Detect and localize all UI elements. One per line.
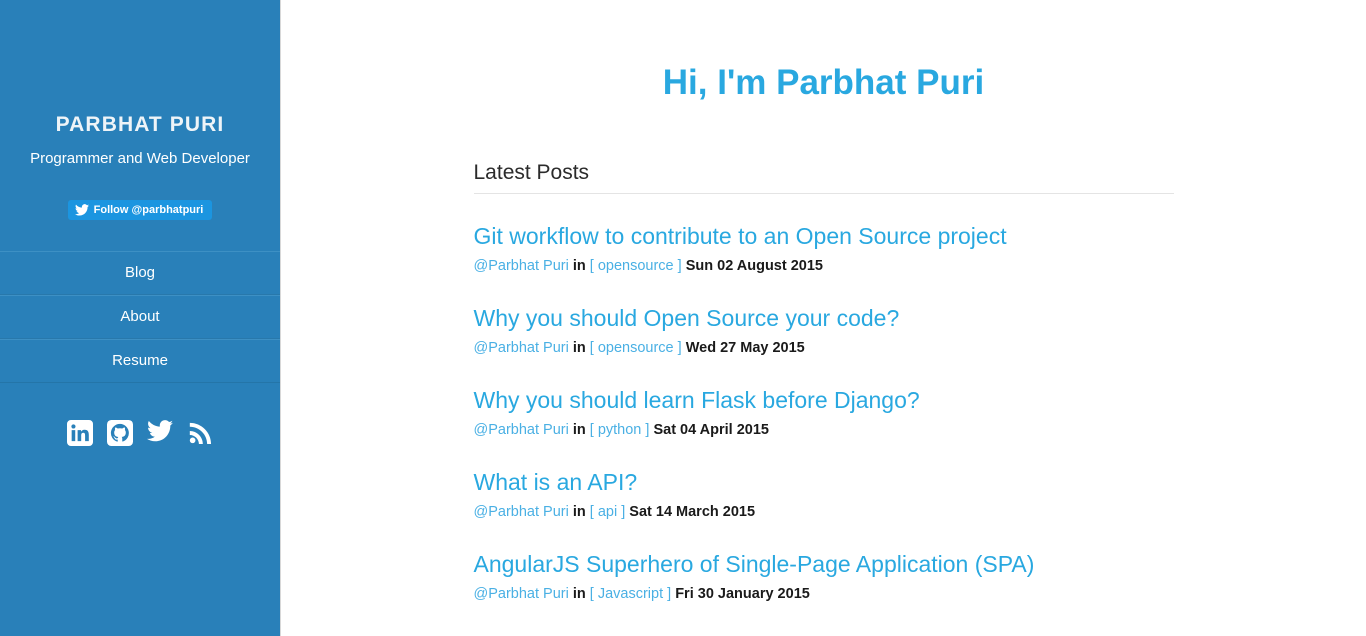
post-category-link[interactable]: [ opensource ]: [590, 340, 682, 356]
post-item: Why you should Open Source your code? @P…: [474, 276, 1174, 358]
meta-connector: in: [573, 258, 586, 274]
sidebar-link-blog[interactable]: Blog: [0, 252, 280, 294]
post-date: Fri 30 January 2015: [675, 586, 810, 602]
post-date: Sat 04 April 2015: [653, 422, 769, 438]
post-date: Sat 14 March 2015: [629, 504, 755, 520]
sidebar-link-resume[interactable]: Resume: [0, 340, 280, 382]
post-author-link[interactable]: @Parbhat Puri: [474, 504, 569, 520]
post-date: Wed 27 May 2015: [686, 340, 805, 356]
sidebar-item-blog[interactable]: Blog: [0, 252, 280, 295]
post-category-link[interactable]: [ python ]: [590, 422, 650, 438]
page-root: PARBHAT PURI Programmer and Web Develope…: [0, 0, 1366, 636]
twitter-follow-button[interactable]: Follow @parbhatpuri: [68, 200, 213, 220]
post-title-link[interactable]: Why you should Open Source your code?: [474, 304, 1174, 332]
content-container: Hi, I'm Parbhat Puri Latest Posts Git wo…: [474, 0, 1174, 604]
post-author-link[interactable]: @Parbhat Puri: [474, 586, 569, 602]
site-tagline: Programmer and Web Developer: [0, 149, 280, 169]
post-title-link[interactable]: Git workflow to contribute to an Open So…: [474, 222, 1174, 250]
post-author-link[interactable]: @Parbhat Puri: [474, 422, 569, 438]
meta-connector: in: [573, 586, 586, 602]
sidebar-link-about[interactable]: About: [0, 296, 280, 338]
section-heading-latest-posts: Latest Posts: [474, 160, 1174, 194]
post-meta: @Parbhat Puri in [ api ] Sat 14 March 20…: [474, 503, 1174, 522]
github-icon[interactable]: [107, 420, 133, 446]
page-title: Hi, I'm Parbhat Puri: [474, 62, 1174, 104]
post-meta: @Parbhat Puri in [ opensource ] Sun 02 A…: [474, 257, 1174, 276]
post-meta: @Parbhat Puri in [ python ] Sat 04 April…: [474, 421, 1174, 440]
main-content: Hi, I'm Parbhat Puri Latest Posts Git wo…: [281, 0, 1366, 636]
sidebar-brand: PARBHAT PURI Programmer and Web Develope…: [0, 0, 280, 169]
post-item: What is an API? @Parbhat Puri in [ api ]…: [474, 440, 1174, 522]
twitter-bird-icon: [75, 204, 89, 216]
social-links: [0, 420, 280, 446]
post-date: Sun 02 August 2015: [686, 258, 823, 274]
post-category-link[interactable]: [ opensource ]: [590, 258, 682, 274]
post-meta: @Parbhat Puri in [ Javascript ] Fri 30 J…: [474, 585, 1174, 604]
post-title-link[interactable]: AngularJS Superhero of Single-Page Appli…: [474, 550, 1174, 578]
twitter-follow-container: Follow @parbhatpuri: [0, 200, 280, 221]
post-author-link[interactable]: @Parbhat Puri: [474, 258, 569, 274]
sidebar: PARBHAT PURI Programmer and Web Develope…: [0, 0, 281, 636]
post-item: Git workflow to contribute to an Open So…: [474, 194, 1174, 276]
post-meta: @Parbhat Puri in [ opensource ] Wed 27 M…: [474, 339, 1174, 358]
post-category-link[interactable]: [ Javascript ]: [590, 586, 671, 602]
post-title-link[interactable]: What is an API?: [474, 468, 1174, 496]
sidebar-item-resume[interactable]: Resume: [0, 339, 280, 382]
twitter-follow-label: Follow @parbhatpuri: [94, 203, 204, 217]
post-item: AngularJS Superhero of Single-Page Appli…: [474, 522, 1174, 604]
linkedin-icon[interactable]: [67, 420, 93, 446]
site-title: PARBHAT PURI: [0, 113, 280, 137]
post-title-link[interactable]: Why you should learn Flask before Django…: [474, 386, 1174, 414]
meta-connector: in: [573, 504, 586, 520]
rss-icon[interactable]: [187, 420, 213, 446]
twitter-icon[interactable]: [147, 420, 173, 446]
sidebar-nav: Blog About Resume: [0, 251, 280, 383]
sidebar-item-about[interactable]: About: [0, 295, 280, 339]
post-author-link[interactable]: @Parbhat Puri: [474, 340, 569, 356]
meta-connector: in: [573, 340, 586, 356]
post-item: Why you should learn Flask before Django…: [474, 358, 1174, 440]
meta-connector: in: [573, 422, 586, 438]
post-list: Git workflow to contribute to an Open So…: [474, 194, 1174, 604]
post-category-link[interactable]: [ api ]: [590, 504, 625, 520]
